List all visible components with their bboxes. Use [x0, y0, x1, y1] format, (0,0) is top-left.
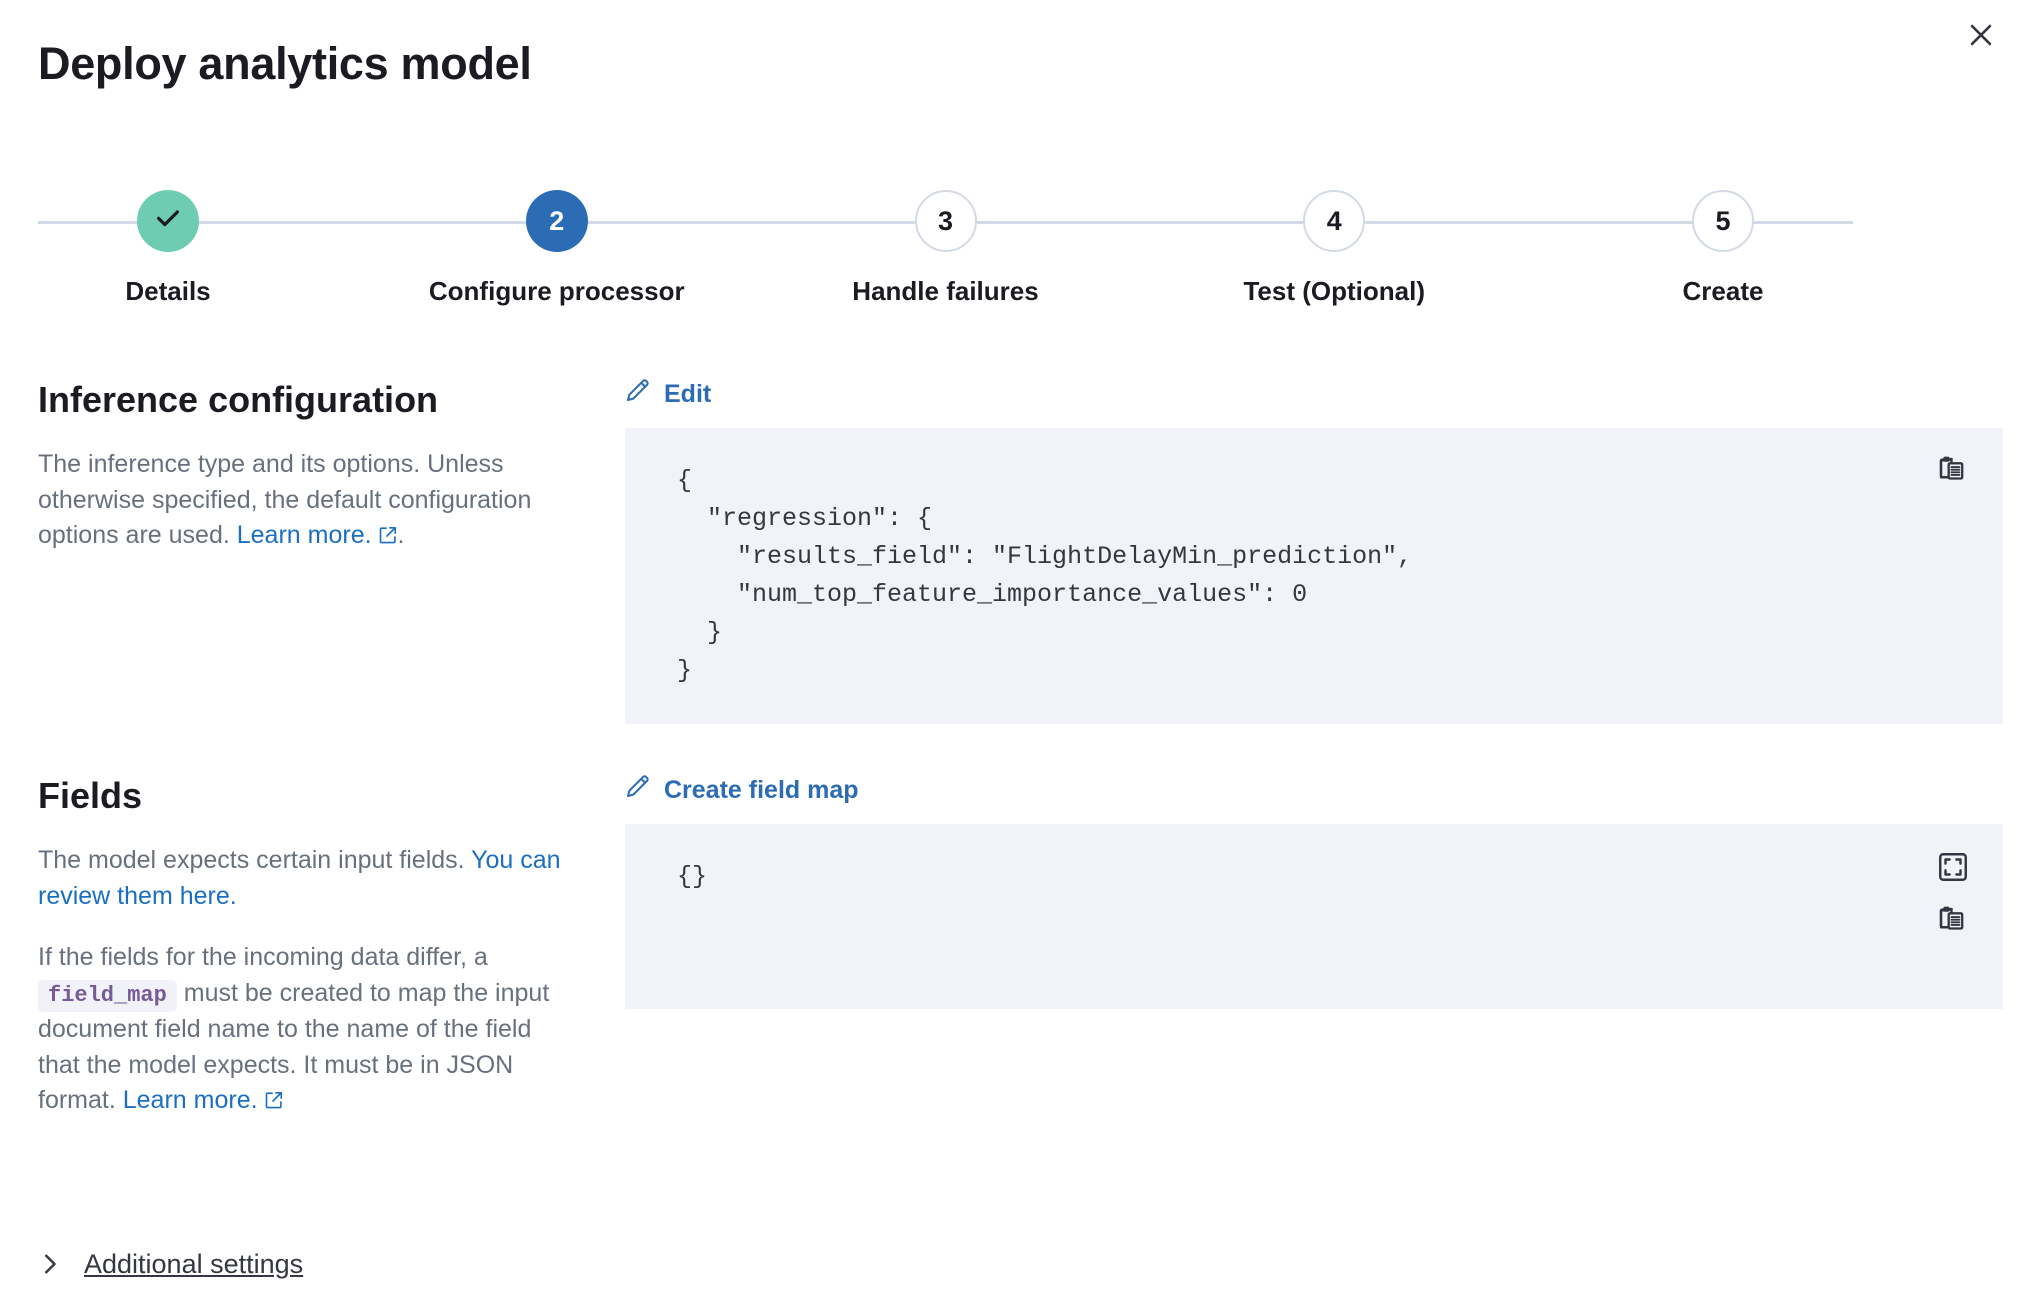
expand-field-map-button[interactable] [1937, 852, 1969, 884]
field-map-code-chip: field_map [38, 980, 177, 1013]
fields-description-column: Fields The model expects certain input f… [0, 774, 625, 1147]
close-button[interactable] [1957, 12, 2005, 60]
fields-description-2: If the fields for the incoming data diff… [38, 940, 575, 1121]
external-link-icon [264, 1085, 284, 1121]
fields-desc2-part1: If the fields for the incoming data diff… [38, 943, 488, 971]
inference-desc-period: . [398, 521, 405, 549]
clipboard-copy-icon [1938, 456, 1968, 489]
step-3-circle: 3 [915, 190, 977, 252]
fields-description-1: The model expects certain input fields. … [38, 843, 575, 914]
create-field-map-button[interactable]: Create field map [625, 774, 859, 806]
fields-learn-more-link[interactable]: Learn more. [123, 1086, 258, 1114]
fields-title: Fields [38, 774, 575, 817]
pencil-icon [625, 378, 650, 410]
fields-editor-column: Create field map {} [625, 774, 2017, 1009]
step-4-label: Test (Optional) [1243, 276, 1425, 307]
inference-configuration-description-column: Inference configuration The inference ty… [0, 378, 625, 582]
edit-inference-config-label: Edit [664, 380, 711, 409]
field-map-code-actions [1937, 852, 1969, 938]
field-map-code-block[interactable]: {} [625, 824, 2003, 1009]
stepper-step-handle-failures[interactable]: 3 Handle failures [816, 190, 1076, 307]
deploy-analytics-model-modal: Deploy analytics model Details 2 Configu… [0, 0, 2017, 1311]
inference-code-actions [1937, 456, 1969, 488]
close-icon [1968, 22, 1994, 51]
stepper-step-test-optional[interactable]: 4 Test (Optional) [1204, 190, 1464, 307]
step-4-circle: 4 [1303, 190, 1365, 252]
step-5-label: Create [1683, 276, 1764, 307]
additional-settings-label: Additional settings [84, 1248, 303, 1280]
clipboard-copy-icon [1938, 906, 1968, 939]
pencil-icon [625, 774, 650, 806]
inference-learn-more-link[interactable]: Learn more. [237, 521, 372, 549]
inference-config-code-block[interactable]: { "regression": { "results_field": "Flig… [625, 428, 2003, 724]
external-link-icon [378, 520, 398, 556]
inference-configuration-title: Inference configuration [38, 378, 575, 421]
step-2-label: Configure processor [429, 276, 685, 307]
stepper-step-details[interactable]: Details [38, 190, 298, 307]
inference-configuration-editor-column: Edit { "regression": { "results_field": … [625, 378, 2017, 724]
step-5-circle: 5 [1692, 190, 1754, 252]
fields-section: Fields The model expects certain input f… [0, 774, 2017, 1147]
field-map-code-text: {} [677, 858, 1963, 896]
stepper-step-create[interactable]: 5 Create [1593, 190, 1853, 307]
chevron-right-icon [38, 1252, 62, 1276]
edit-inference-config-button[interactable]: Edit [625, 378, 711, 410]
check-icon [153, 203, 183, 240]
fields-desc1-text: The model expects certain input fields. [38, 846, 471, 874]
expand-icon [1938, 852, 1968, 885]
copy-inference-config-button[interactable] [1937, 456, 1969, 488]
inference-configuration-description: The inference type and its options. Unle… [38, 447, 575, 556]
step-1-circle [137, 190, 199, 252]
step-1-label: Details [125, 276, 210, 307]
additional-settings-accordion[interactable]: Additional settings [38, 1248, 303, 1280]
step-3-label: Handle failures [852, 276, 1038, 307]
copy-field-map-button[interactable] [1937, 906, 1969, 938]
step-2-circle: 2 [526, 190, 588, 252]
page-title: Deploy analytics model [38, 38, 532, 90]
create-field-map-label: Create field map [664, 776, 859, 805]
inference-config-code-text: { "regression": { "results_field": "Flig… [677, 462, 1963, 690]
stepper-step-configure-processor[interactable]: 2 Configure processor [427, 190, 687, 307]
inference-configuration-section: Inference configuration The inference ty… [0, 378, 2017, 724]
